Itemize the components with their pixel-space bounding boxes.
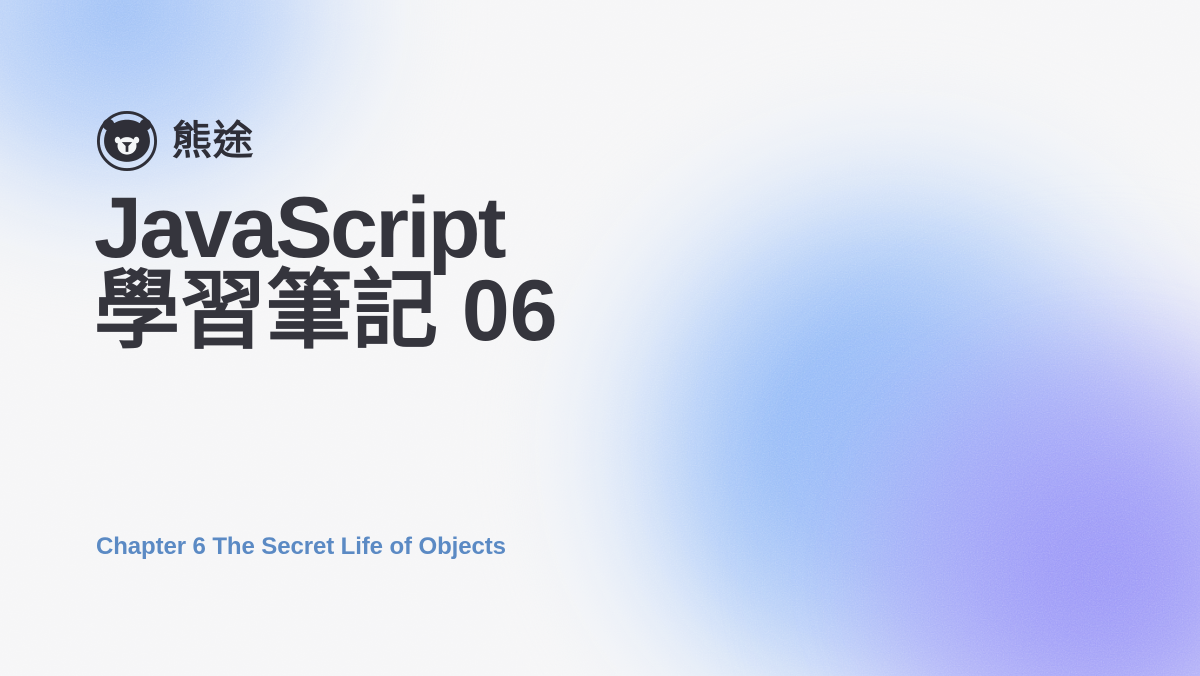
- title-line-latin: JavaScript: [94, 188, 558, 269]
- brand-lockup: 熊途: [96, 110, 254, 172]
- brand-name: 熊途: [172, 121, 254, 161]
- page-title: JavaScript 學習筆記 06: [94, 188, 558, 352]
- bear-logo-icon: [96, 110, 158, 172]
- cover-content: 熊途 JavaScript 學習筆記 06 Chapter 6 The Secr…: [0, 0, 1200, 676]
- title-line-cjk: 學習筆記 06: [94, 271, 558, 352]
- chapter-subtitle: Chapter 6 The Secret Life of Objects: [96, 533, 506, 561]
- cover-card: 熊途 JavaScript 學習筆記 06 Chapter 6 The Secr…: [0, 0, 1200, 676]
